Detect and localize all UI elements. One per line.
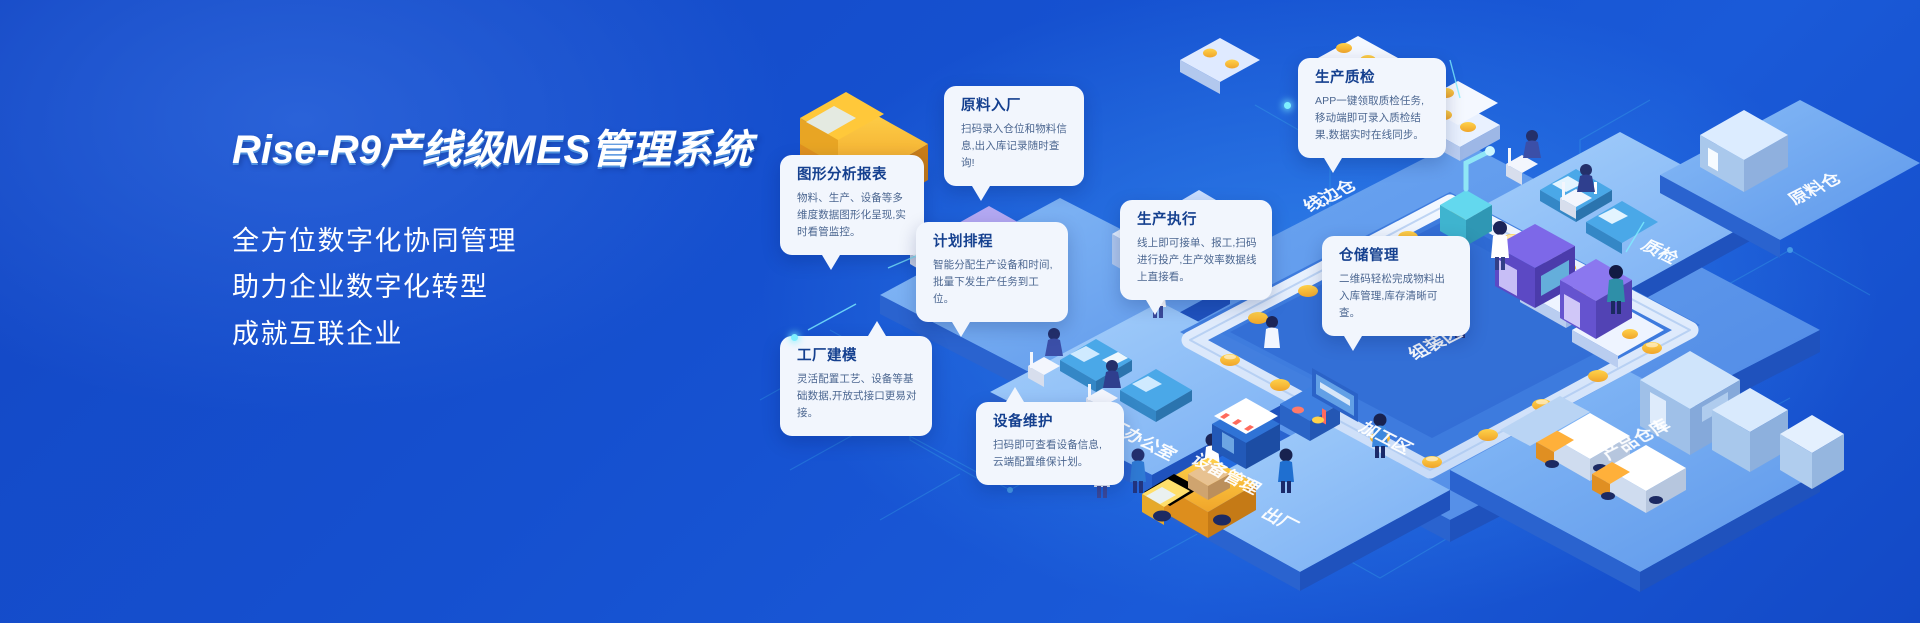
callout-factory-modeling[interactable]: 工厂建模 灵活配置工艺、设备等基础数据,开放式接口更易对接。 [780, 336, 932, 436]
hero-text-block: Rise-R9产线级MES管理系统 全方位数字化协同管理 助力企业数字化转型 成… [232, 126, 792, 357]
callout-tail [952, 322, 970, 337]
callout-body: 扫码即可查看设备信息,云端配置维保计划。 [993, 437, 1109, 471]
callout-body: 灵活配置工艺、设备等基础数据,开放式接口更易对接。 [797, 371, 917, 422]
callout-equipment-maintenance[interactable]: 设备维护 扫码即可查看设备信息,云端配置维保计划。 [976, 402, 1124, 485]
callout-production-quality-inspection[interactable]: 生产质检 APP一键领取质检任务,移动端即可录入质检结果,数据实时在线同步。 [1298, 58, 1446, 158]
callout-warehouse-management[interactable]: 仓储管理 二维码轻松完成物料出入库管理,库存清晰可查。 [1322, 236, 1470, 336]
callout-tail [1146, 300, 1164, 315]
callout-body: 二维码轻松完成物料出入库管理,库存清晰可查。 [1339, 271, 1455, 322]
callout-title: 原料入厂 [961, 99, 1069, 115]
hero-subtitle-1: 全方位数字化协同管理 [232, 218, 792, 264]
connector-dot-quality [1284, 102, 1291, 109]
callout-title: 计划排程 [933, 235, 1053, 251]
callout-title: 设备维护 [993, 415, 1109, 431]
callout-production-execution[interactable]: 生产执行 线上即可接单、报工,扫码进行投产,生产效率数据线上直接看。 [1120, 200, 1272, 300]
callout-body: 线上即可接单、报工,扫码进行投产,生产效率数据线上直接看。 [1137, 235, 1257, 286]
product-subtitle-cn: 产线级MES管理系统 [381, 128, 753, 172]
product-name: Rise-R9 [232, 128, 381, 172]
callout-body: 智能分配生产设备和时间,批量下发生产任务到工位。 [933, 257, 1053, 308]
callout-tail [822, 255, 840, 270]
callout-body: 扫码录入仓位和物料信息,出入库记录随时查询! [961, 121, 1069, 172]
callout-tail [972, 186, 990, 201]
callout-body: 物料、生产、设备等多维度数据图形化呈现,实时看管监控。 [797, 190, 909, 241]
callout-tail [1006, 387, 1024, 402]
hero-subtitle-2: 助力企业数字化转型 [232, 264, 792, 310]
callout-title: 工厂建模 [797, 349, 917, 365]
callout-title: 生产执行 [1137, 213, 1257, 229]
callout-title: 仓储管理 [1339, 249, 1455, 265]
callout-body: APP一键领取质检任务,移动端即可录入质检结果,数据实时在线同步。 [1315, 93, 1431, 144]
connector-dot-factory-modeling [791, 334, 798, 341]
callout-tail [868, 321, 886, 336]
hero-subtitle-list: 全方位数字化协同管理 助力企业数字化转型 成就互联企业 [232, 218, 792, 357]
mes-hero-banner: Rise-R9产线级MES管理系统 全方位数字化协同管理 助力企业数字化转型 成… [0, 0, 1920, 623]
page-title: Rise-R9产线级MES管理系统 [232, 126, 792, 174]
callout-tail [1324, 158, 1342, 173]
callout-raw-material-inbound[interactable]: 原料入厂 扫码录入仓位和物料信息,出入库记录随时查询! [944, 86, 1084, 186]
hero-subtitle-3: 成就互联企业 [232, 311, 792, 357]
callout-title: 生产质检 [1315, 71, 1431, 87]
callout-chart-analysis-report[interactable]: 图形分析报表 物料、生产、设备等多维度数据图形化呈现,实时看管监控。 [780, 155, 924, 255]
callout-tail [1344, 336, 1362, 351]
callout-title: 图形分析报表 [797, 168, 909, 184]
callout-plan-scheduling[interactable]: 计划排程 智能分配生产设备和时间,批量下发生产任务到工位。 [916, 222, 1068, 322]
